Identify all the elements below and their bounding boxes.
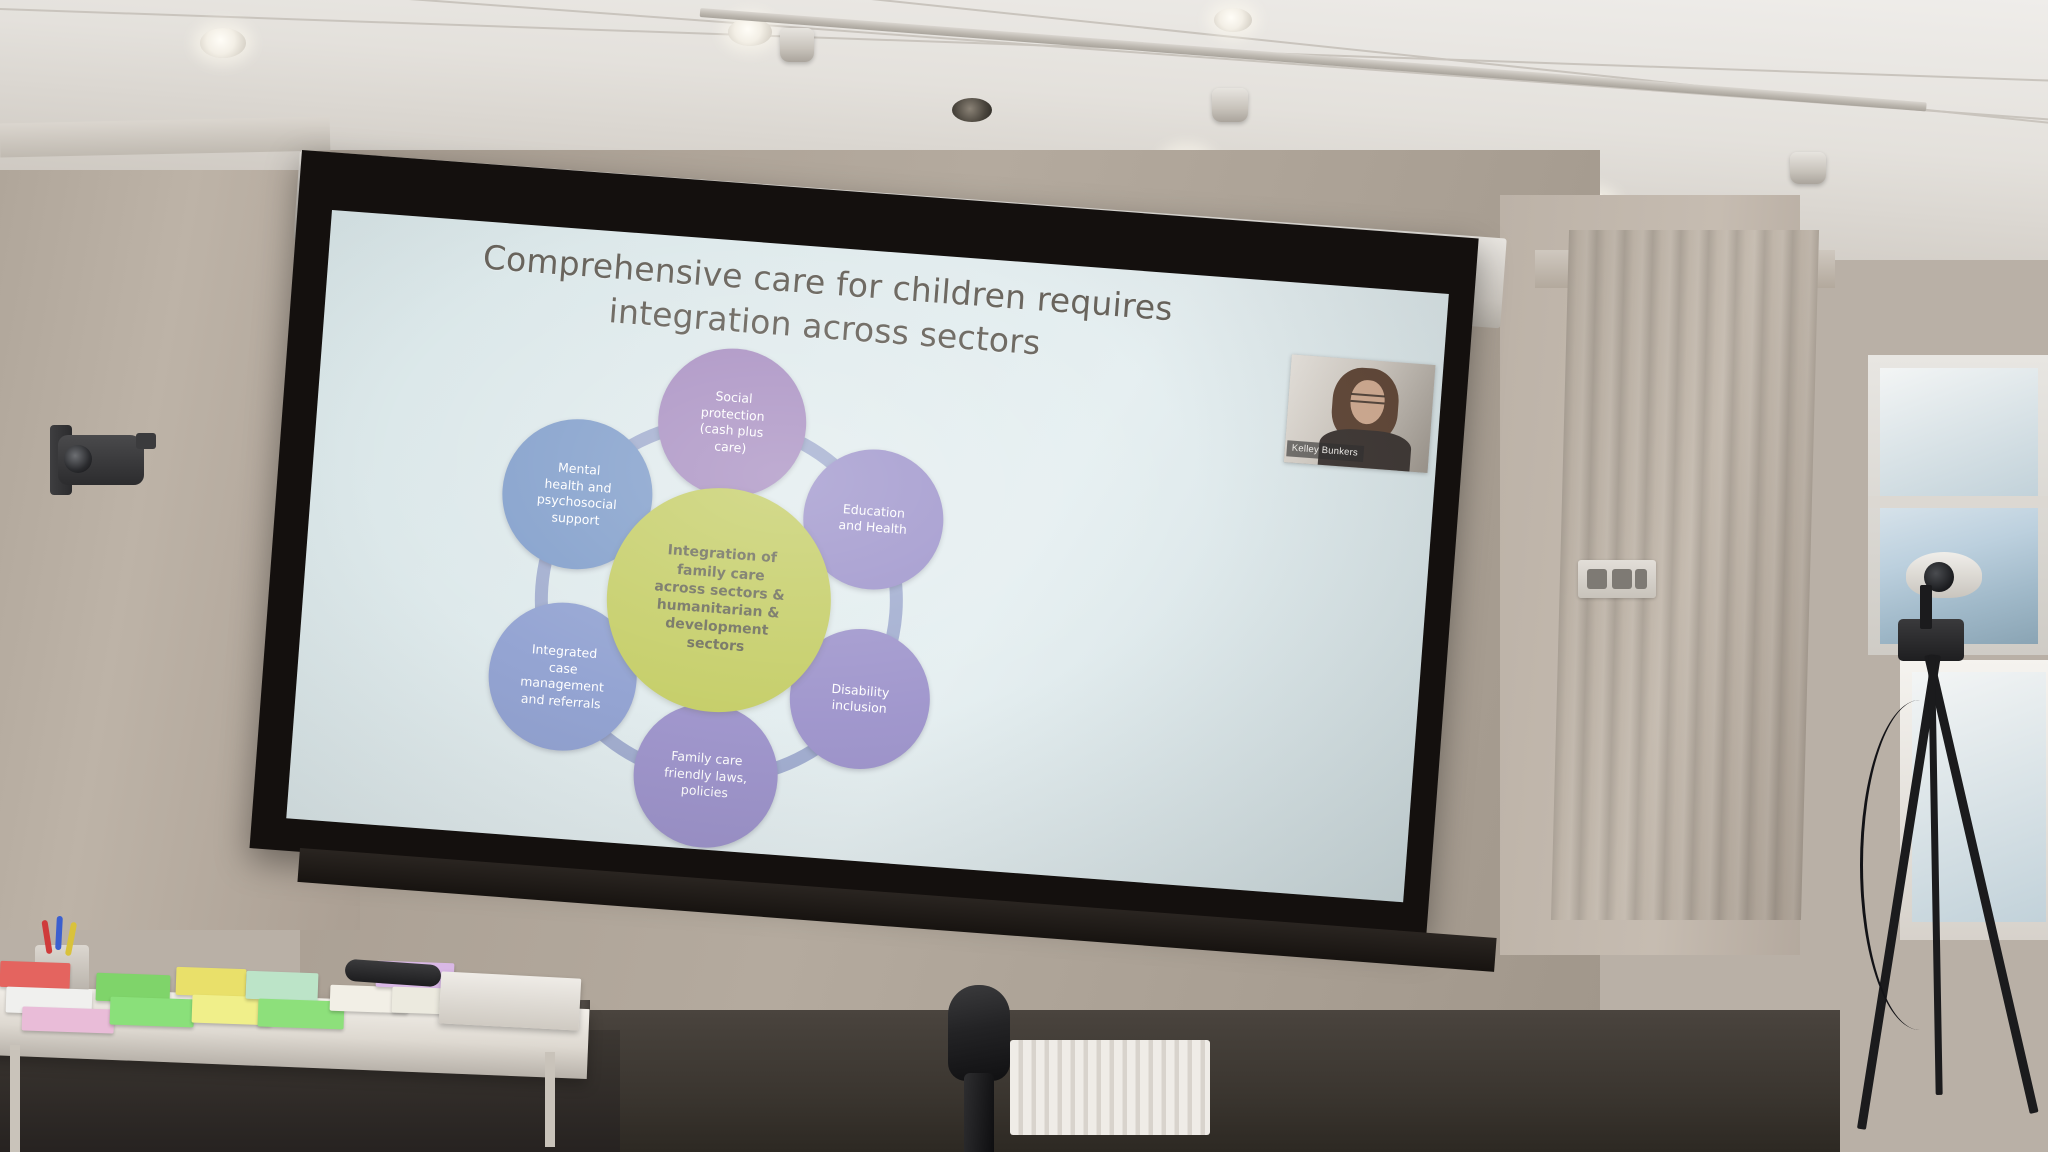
- sticky-note-pad: [22, 1006, 115, 1033]
- window-mullion: [1868, 496, 2048, 508]
- node-label: Integrated case management and referrals: [518, 641, 606, 713]
- center-node-label: Integration of family care across sector…: [650, 541, 788, 660]
- sticky-note-pad: [246, 971, 319, 1001]
- ptz-camera-left: [50, 425, 160, 497]
- sticky-note-pad: [0, 961, 70, 989]
- node-label: Mental health and psychosocial support: [535, 458, 620, 530]
- microphone-head: [948, 985, 1010, 1081]
- camera-arm: [136, 433, 156, 449]
- binder: [439, 971, 582, 1030]
- video-conference-tile[interactable]: Kelley Bunkers: [1284, 354, 1436, 472]
- radiator: [1010, 1040, 1210, 1135]
- microphone: [948, 985, 1028, 1152]
- ceiling-downlight: [728, 18, 772, 46]
- power-socket: [1635, 569, 1647, 589]
- node-label: Social protection (cash plus care): [698, 387, 767, 458]
- ceiling-downlight: [200, 28, 246, 58]
- projector-lens: [952, 98, 992, 122]
- track-light-head: [780, 28, 814, 62]
- node-label: Disability inclusion: [830, 680, 890, 717]
- table-leg: [10, 1045, 20, 1152]
- sticky-note-pad: [110, 997, 195, 1028]
- screenshot-root: Comprehensive care for children requires…: [0, 0, 2048, 1152]
- camera-lens-icon: [64, 445, 92, 473]
- wall-socket-plate: [1578, 560, 1656, 598]
- microphone-handle: [964, 1073, 994, 1152]
- ceiling-downlight: [1214, 8, 1252, 32]
- sticky-note-pad: [176, 967, 247, 997]
- window-glass: [1880, 368, 2038, 496]
- tripod-column: [1920, 585, 1932, 629]
- circular-diagram: Social protection (cash plus care) Educa…: [462, 343, 977, 858]
- curtain-rail-left: [0, 117, 330, 158]
- track-light-head: [1790, 152, 1826, 184]
- node-label: Family care friendly laws, policies: [662, 748, 749, 804]
- table-leg: [545, 1052, 555, 1147]
- presentation-slide: Comprehensive care for children requires…: [286, 210, 1449, 902]
- camera-cable: [1860, 700, 1980, 1030]
- projection-screen-surface: Comprehensive care for children requires…: [286, 210, 1449, 902]
- track-light-head: [1212, 88, 1248, 122]
- node-label: Education and Health: [838, 500, 909, 538]
- power-socket: [1587, 569, 1607, 589]
- power-socket: [1612, 569, 1632, 589]
